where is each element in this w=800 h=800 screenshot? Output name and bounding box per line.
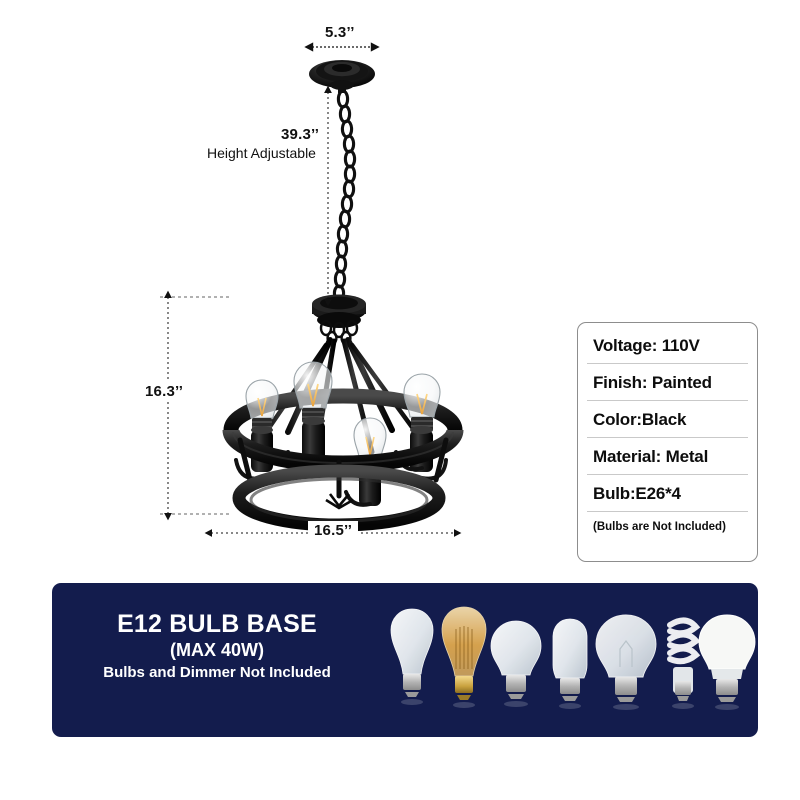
spec-note-bulbs-not-included: (Bulbs are Not Included) bbox=[587, 512, 748, 542]
bulb-icon-t45-amber bbox=[553, 619, 587, 701]
spec-row-material: Material: Metal bbox=[587, 438, 748, 475]
banner-subtitle: (MAX 40W) bbox=[52, 639, 382, 661]
bulb-base-banner: E12 BULB BASE (MAX 40W) Bulbs and Dimmer… bbox=[52, 583, 758, 737]
spec-row-color: Color:Black bbox=[587, 401, 748, 438]
banner-text-block: E12 BULB BASE (MAX 40W) Bulbs and Dimmer… bbox=[52, 609, 382, 684]
spec-row-voltage: Voltage: 110V bbox=[587, 327, 748, 364]
specification-panel: Voltage: 110V Finish: Painted Color:Blac… bbox=[577, 322, 758, 562]
dim-label-canopy-width: 5.3’’ bbox=[325, 24, 355, 41]
dim-label-fixture-height: 16.3’’ bbox=[141, 381, 187, 402]
bulb-icon-st64-clear bbox=[391, 609, 433, 697]
bulb-icon-a19-frosted bbox=[596, 615, 656, 702]
dim-label-fixture-width: 16.5’’ bbox=[308, 521, 358, 540]
bulb-icon-led-a19 bbox=[699, 615, 755, 702]
bulb-icon-st64-amber bbox=[442, 607, 486, 700]
bulb-icon-cfl-spiral bbox=[670, 620, 696, 701]
bulb-icon-a19-filament bbox=[491, 621, 541, 699]
banner-title: E12 BULB BASE bbox=[52, 609, 382, 639]
dim-fixture-height bbox=[160, 297, 232, 514]
dim-sublabel-height-adjustable: Height Adjustable bbox=[207, 145, 316, 161]
bulb-type-row bbox=[382, 595, 758, 725]
product-spec-image: 5.3’’ 39.3’’ Height Adjustable 16.3’’ 16… bbox=[0, 0, 800, 800]
banner-note: Bulbs and Dimmer Not Included bbox=[52, 662, 382, 684]
dim-label-drop-height: 39.3’’ bbox=[281, 126, 319, 143]
spec-row-finish: Finish: Painted bbox=[587, 364, 748, 401]
spec-row-bulb: Bulb:E26*4 bbox=[587, 475, 748, 512]
